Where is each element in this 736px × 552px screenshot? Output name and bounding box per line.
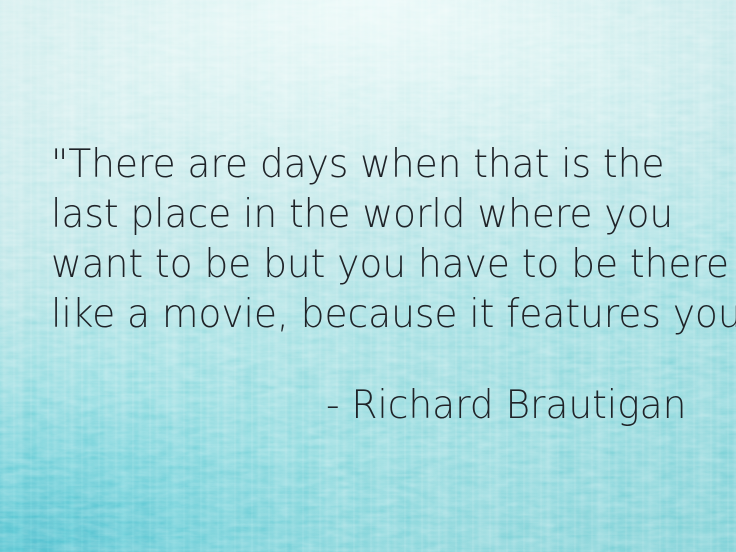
quote-line-2: last place in the world where you [51, 190, 688, 240]
quote-line-4: like a movie, because it features you." [51, 290, 688, 340]
quote-text-block: "There are days when that is the last pl… [51, 140, 711, 340]
quote-attribution: - Richard Brautigan [326, 382, 686, 430]
quote-line-3: want to be but you have to be there [51, 240, 688, 290]
quote-line-1: "There are days when that is the [51, 140, 688, 190]
quote-image-canvas: "There are days when that is the last pl… [0, 0, 736, 552]
